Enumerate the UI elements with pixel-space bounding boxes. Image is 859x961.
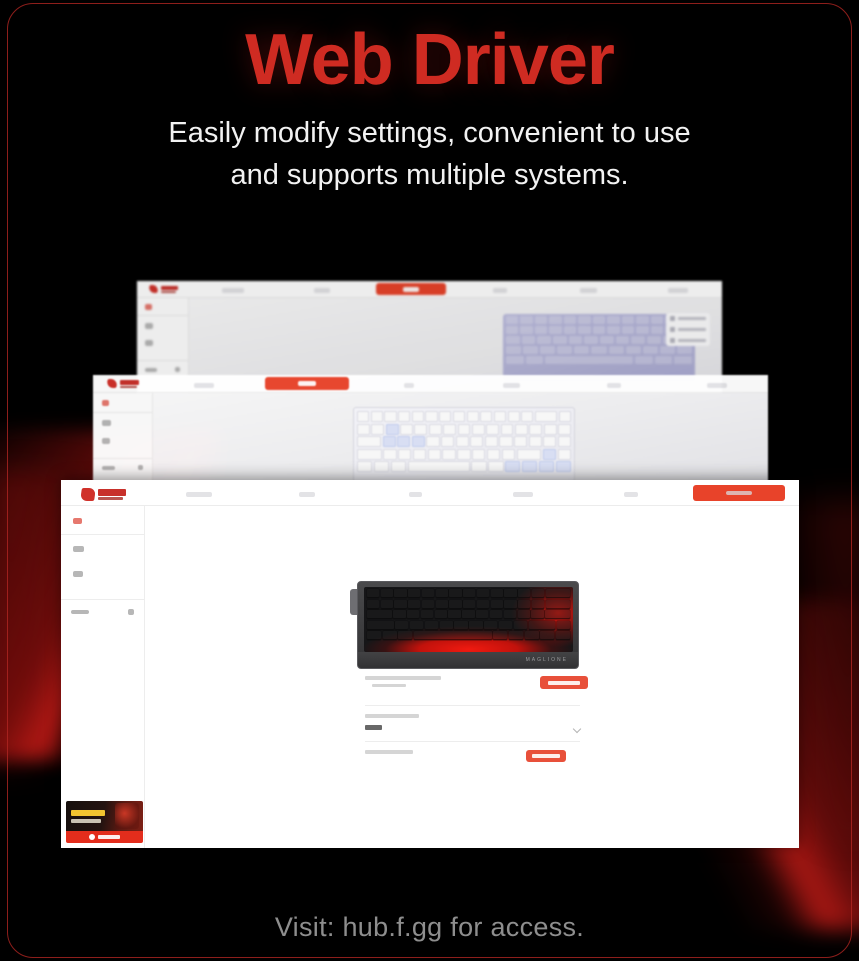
window-front-topbar [61, 480, 799, 506]
window-back-nav [189, 281, 722, 298]
brand-wordmark [98, 489, 126, 500]
driver-window-mid[interactable] [93, 375, 768, 485]
sliders-icon [670, 327, 675, 332]
option-row-2[interactable] [666, 324, 710, 335]
option-row-3[interactable] [666, 335, 710, 346]
keyboard-body: MAGLIONE [357, 581, 579, 669]
settings-icon [175, 367, 180, 372]
window-mid-topbar [93, 375, 768, 393]
promo-character-art [115, 803, 139, 829]
page-subtitle: Easily modify settings, convenient to us… [0, 113, 859, 195]
product-brand-text: MAGLIONE [526, 657, 568, 663]
nav-item-4[interactable] [455, 281, 544, 298]
sidebar-item-2[interactable] [93, 413, 152, 433]
nav-item-4[interactable] [469, 484, 577, 502]
page-subtitle-line-2: and supports multiple systems. [0, 155, 859, 196]
sidebar-item-3[interactable] [61, 563, 144, 585]
nav-item-1[interactable] [153, 375, 256, 393]
firmware-row [365, 676, 580, 700]
sidebar-item-2[interactable] [61, 535, 144, 563]
header-cta-wrap [685, 485, 793, 501]
restore-defaults-button[interactable] [526, 750, 566, 762]
nav-item-1[interactable] [145, 484, 253, 502]
promo-cta-label [98, 835, 120, 839]
promo-subtext [71, 819, 101, 823]
keyboard-layout-white[interactable] [353, 407, 575, 482]
sidebar-item-1-active[interactable] [137, 298, 188, 315]
nav-item-5[interactable] [577, 484, 685, 502]
nav-item-4[interactable] [461, 375, 564, 393]
nav-item-5[interactable] [563, 375, 666, 393]
lightbulb-icon [670, 316, 675, 321]
brand-wordmark [161, 286, 178, 293]
driver-window-front[interactable]: MAGLIONE [61, 480, 799, 848]
nav-item-3[interactable] [358, 375, 461, 393]
headline-block: Web Driver Easily modify settings, conve… [0, 24, 859, 196]
window-front-nav [145, 484, 799, 502]
sidebar-item-1-active[interactable] [93, 393, 152, 412]
sidebar-footer-front[interactable] [61, 600, 144, 624]
keyboard-plate [364, 587, 573, 652]
palette-icon [670, 338, 675, 343]
settings-icon [128, 609, 134, 615]
options-panel-back [666, 313, 710, 346]
lighting-mode-row [365, 714, 580, 736]
eagle-emblem-icon [80, 488, 96, 501]
footer-visit-text: Visit: hub.f.gg for access. [0, 912, 859, 943]
download-icon [89, 834, 95, 840]
nav-item-5[interactable] [544, 281, 633, 298]
header-cta-button[interactable] [693, 485, 785, 501]
promo-banner-art [66, 801, 143, 831]
firmware-label-line-1 [365, 676, 441, 680]
brand-logo-back[interactable] [137, 285, 189, 293]
nav-item-3-active[interactable] [367, 283, 456, 295]
chevron-down-icon[interactable] [573, 725, 581, 733]
rgb-mechanical-keyboard-image[interactable]: MAGLIONE [357, 581, 579, 669]
sidebar-footer-mid[interactable] [93, 459, 152, 476]
sidebar-item-2[interactable] [137, 316, 188, 336]
nav-item-2[interactable] [253, 484, 361, 502]
sidebar-item-1-active[interactable] [61, 506, 144, 534]
promo-cta-button[interactable] [66, 831, 143, 843]
page-title: Web Driver [0, 24, 859, 97]
nav-item-3[interactable] [361, 484, 469, 502]
nav-item-6[interactable] [633, 281, 722, 298]
nav-item-2[interactable] [278, 281, 367, 298]
poster-root: Web Driver Easily modify settings, conve… [0, 0, 859, 961]
firmware-update-button[interactable] [540, 676, 588, 689]
promo-headline [71, 810, 105, 816]
promo-banner[interactable] [66, 801, 143, 843]
page-subtitle-line-1: Easily modify settings, convenient to us… [0, 113, 859, 154]
keyboard-bezel: MAGLIONE [358, 652, 578, 668]
lighting-mode-label [365, 714, 419, 718]
window-mid-nav [153, 375, 768, 393]
option-row-1[interactable] [666, 313, 710, 324]
brand-wordmark [120, 380, 139, 388]
nav-item-6[interactable] [666, 375, 769, 393]
firmware-label-line-2 [372, 684, 406, 688]
eagle-emblem-icon [106, 379, 117, 388]
settings-icon [138, 465, 143, 470]
sidebar-item-3[interactable] [93, 433, 152, 449]
form-divider-2 [365, 741, 580, 742]
window-front-sidebar [61, 506, 145, 848]
window-mid-sidebar [93, 393, 153, 485]
restore-defaults-row [365, 750, 580, 768]
nav-item-2-active[interactable] [256, 377, 359, 390]
brand-logo-mid[interactable] [93, 379, 153, 388]
keyboard-keys [364, 587, 573, 652]
settings-form [365, 676, 580, 772]
lighting-mode-value [365, 725, 382, 730]
eagle-emblem-icon [148, 285, 158, 293]
nav-item-1[interactable] [189, 281, 278, 298]
sidebar-item-3[interactable] [137, 336, 188, 350]
window-back-topbar [137, 281, 722, 298]
brand-logo-front[interactable] [61, 484, 145, 501]
form-divider [365, 705, 580, 706]
restore-defaults-label [365, 750, 413, 754]
